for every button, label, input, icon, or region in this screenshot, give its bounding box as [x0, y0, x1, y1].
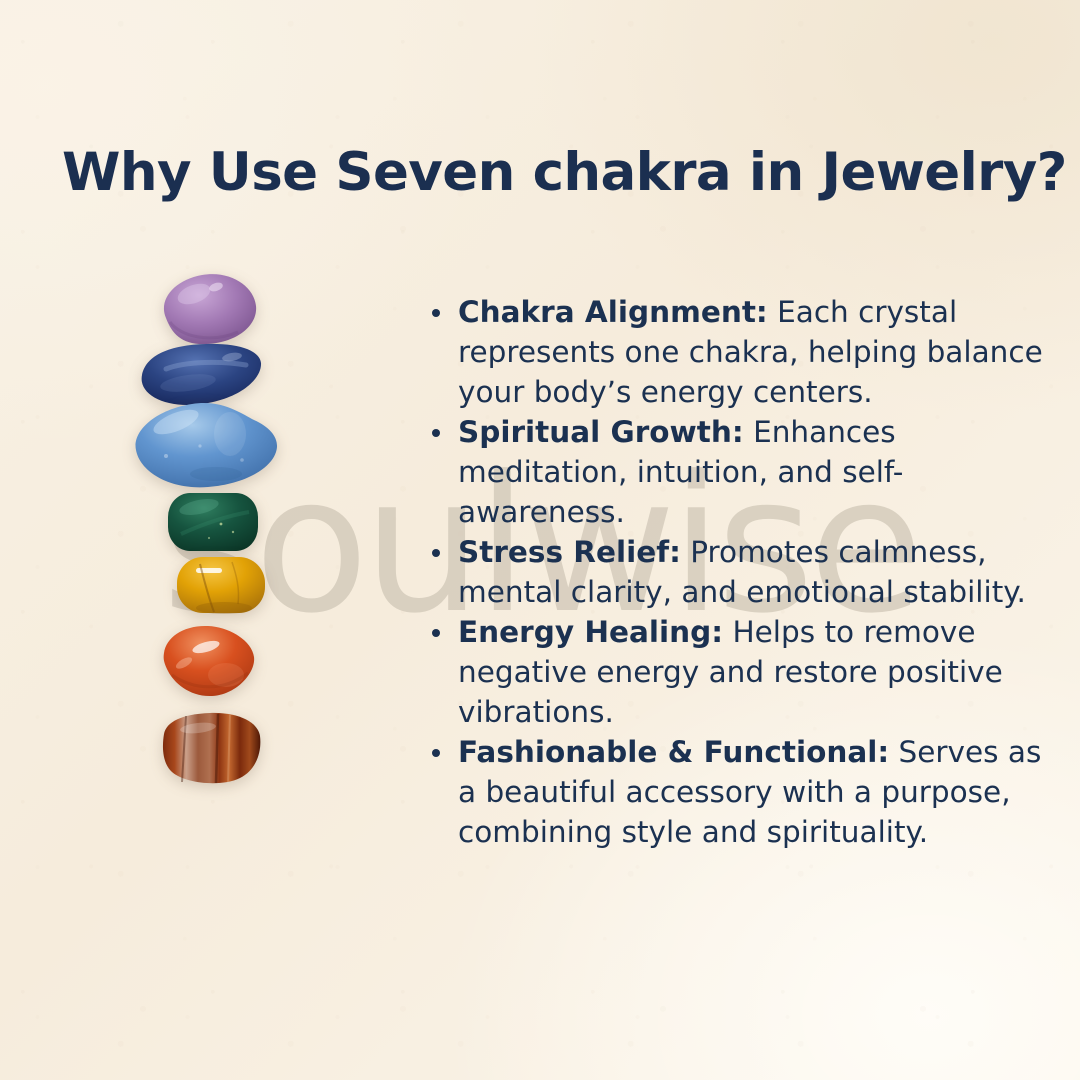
list-item-text: Chakra Alignment: Each crystal represent…: [458, 292, 1044, 412]
list-item: Stress Relief: Promotes calmness, mental…: [424, 532, 1044, 612]
chakra-stone-stack: [110, 262, 310, 792]
page-title: Why Use Seven chakra in Jewelry?: [62, 144, 1022, 202]
list-item-lead: Energy Healing:: [458, 615, 723, 649]
benefits-list: Chakra Alignment: Each crystal represent…: [424, 292, 1044, 852]
bullet-dot-icon: [432, 749, 440, 757]
list-item: Spiritual Growth: Enhances meditation, i…: [424, 412, 1044, 532]
list-item-text: Fashionable & Functional: Serves as a be…: [458, 732, 1044, 852]
list-item-lead: Spiritual Growth:: [458, 415, 744, 449]
list-item: Chakra Alignment: Each crystal represent…: [424, 292, 1044, 412]
bullet-dot-icon: [432, 549, 440, 557]
red-tigers-eye-stone: [156, 710, 266, 786]
green-aventurine-stone: [165, 490, 261, 554]
list-item-lead: Stress Relief:: [458, 535, 681, 569]
list-item: Fashionable & Functional: Serves as a be…: [424, 732, 1044, 852]
list-item-text: Stress Relief: Promotes calmness, mental…: [458, 532, 1044, 612]
list-item-text: Spiritual Growth: Enhances meditation, i…: [458, 412, 1044, 532]
list-item-lead: Fashionable & Functional:: [458, 735, 889, 769]
bullet-dot-icon: [432, 429, 440, 437]
yellow-jasper-stone: [174, 554, 268, 616]
bullet-dot-icon: [432, 629, 440, 637]
bullet-dot-icon: [432, 309, 440, 317]
poster-canvas: soulwise Why Use Seven chakra in Jewelry…: [0, 0, 1080, 1080]
list-item: Energy Healing: Helps to remove negative…: [424, 612, 1044, 732]
list-item-text: Energy Healing: Helps to remove negative…: [458, 612, 1044, 732]
carnelian-stone: [160, 623, 258, 699]
list-item-lead: Chakra Alignment:: [458, 295, 768, 329]
blue-aventurine-stone: [130, 398, 282, 490]
amethyst-stone: [150, 270, 260, 348]
